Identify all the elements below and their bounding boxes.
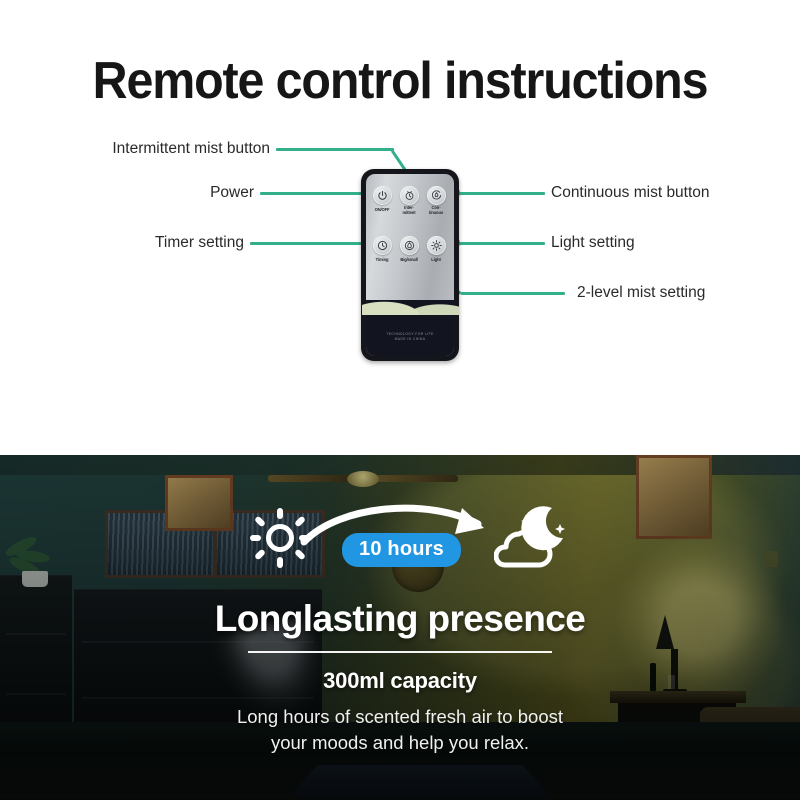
body-line-1: Long hours of scented fresh air to boost xyxy=(237,706,563,727)
remote-button-continuous[interactable] xyxy=(427,186,446,205)
remote-bottom-panel: TECHNOLOGY FOR LIFE MADE IN CHINA xyxy=(366,300,454,356)
annotation-intermittent-mist-button: Intermittent mist button xyxy=(0,139,276,158)
remote-button-intermittent[interactable] xyxy=(400,186,419,205)
product-infographic: Remote control instructions Intermittent… xyxy=(0,0,800,800)
remote-wave-graphic xyxy=(362,289,459,315)
annotation-timer-setting: Timer setting xyxy=(0,233,250,252)
annotation-continuous-mist-button: Continuous mist button xyxy=(551,183,710,202)
remote-label-big-small: Big/small xyxy=(395,258,423,263)
leader-line-intermittent xyxy=(276,148,394,151)
body-copy: Long hours of scented fresh air to boost… xyxy=(0,704,800,756)
brand-line-1: TECHNOLOGY FOR LIFE xyxy=(386,332,433,336)
remote-label-power: ON/OFF xyxy=(368,208,396,213)
leader-line-continuous xyxy=(455,192,545,195)
annotation-power: Power xyxy=(0,183,260,202)
page-title: Remote control instructions xyxy=(28,52,772,110)
remote-brand-text: TECHNOLOGY FOR LIFE MADE IN CHINA xyxy=(366,332,454,342)
remote-label-timing: Timing xyxy=(368,258,396,263)
remote-button-power[interactable] xyxy=(373,186,392,205)
annotation-two-level-mist-setting: 2-level mist setting xyxy=(577,283,705,302)
remote-button-timing[interactable] xyxy=(373,236,392,255)
leader-line-two-level-mist xyxy=(461,292,565,295)
leader-line-light xyxy=(455,242,545,245)
remote-label-intermittent: Inter-mittent xyxy=(395,206,423,215)
remote-button-light[interactable] xyxy=(427,236,446,255)
brand-line-2: MADE IN CHINA xyxy=(395,337,426,341)
remote-faceplate: ON/OFF Inter-mittent Con-tinuous xyxy=(366,174,454,356)
duration-badge: 10 hours xyxy=(342,533,461,567)
leader-line-timer xyxy=(250,242,372,245)
leader-line-power xyxy=(260,192,372,195)
remote-label-continuous: Con-tinuous xyxy=(422,206,450,215)
moon-cloud-icon xyxy=(494,504,568,579)
subheadline: 300ml capacity xyxy=(0,668,800,694)
headline-divider xyxy=(248,651,552,653)
headline: Longlasting presence xyxy=(0,598,800,640)
body-line-2: your moods and help you relax. xyxy=(271,732,529,753)
remote-button-big-small[interactable] xyxy=(400,236,419,255)
annotation-light-setting: Light setting xyxy=(551,233,635,252)
remote-control-device: ON/OFF Inter-mittent Con-tinuous xyxy=(361,169,459,361)
remote-label-light: Light xyxy=(422,258,450,263)
remote-instructions-section: Remote control instructions Intermittent… xyxy=(0,0,800,455)
